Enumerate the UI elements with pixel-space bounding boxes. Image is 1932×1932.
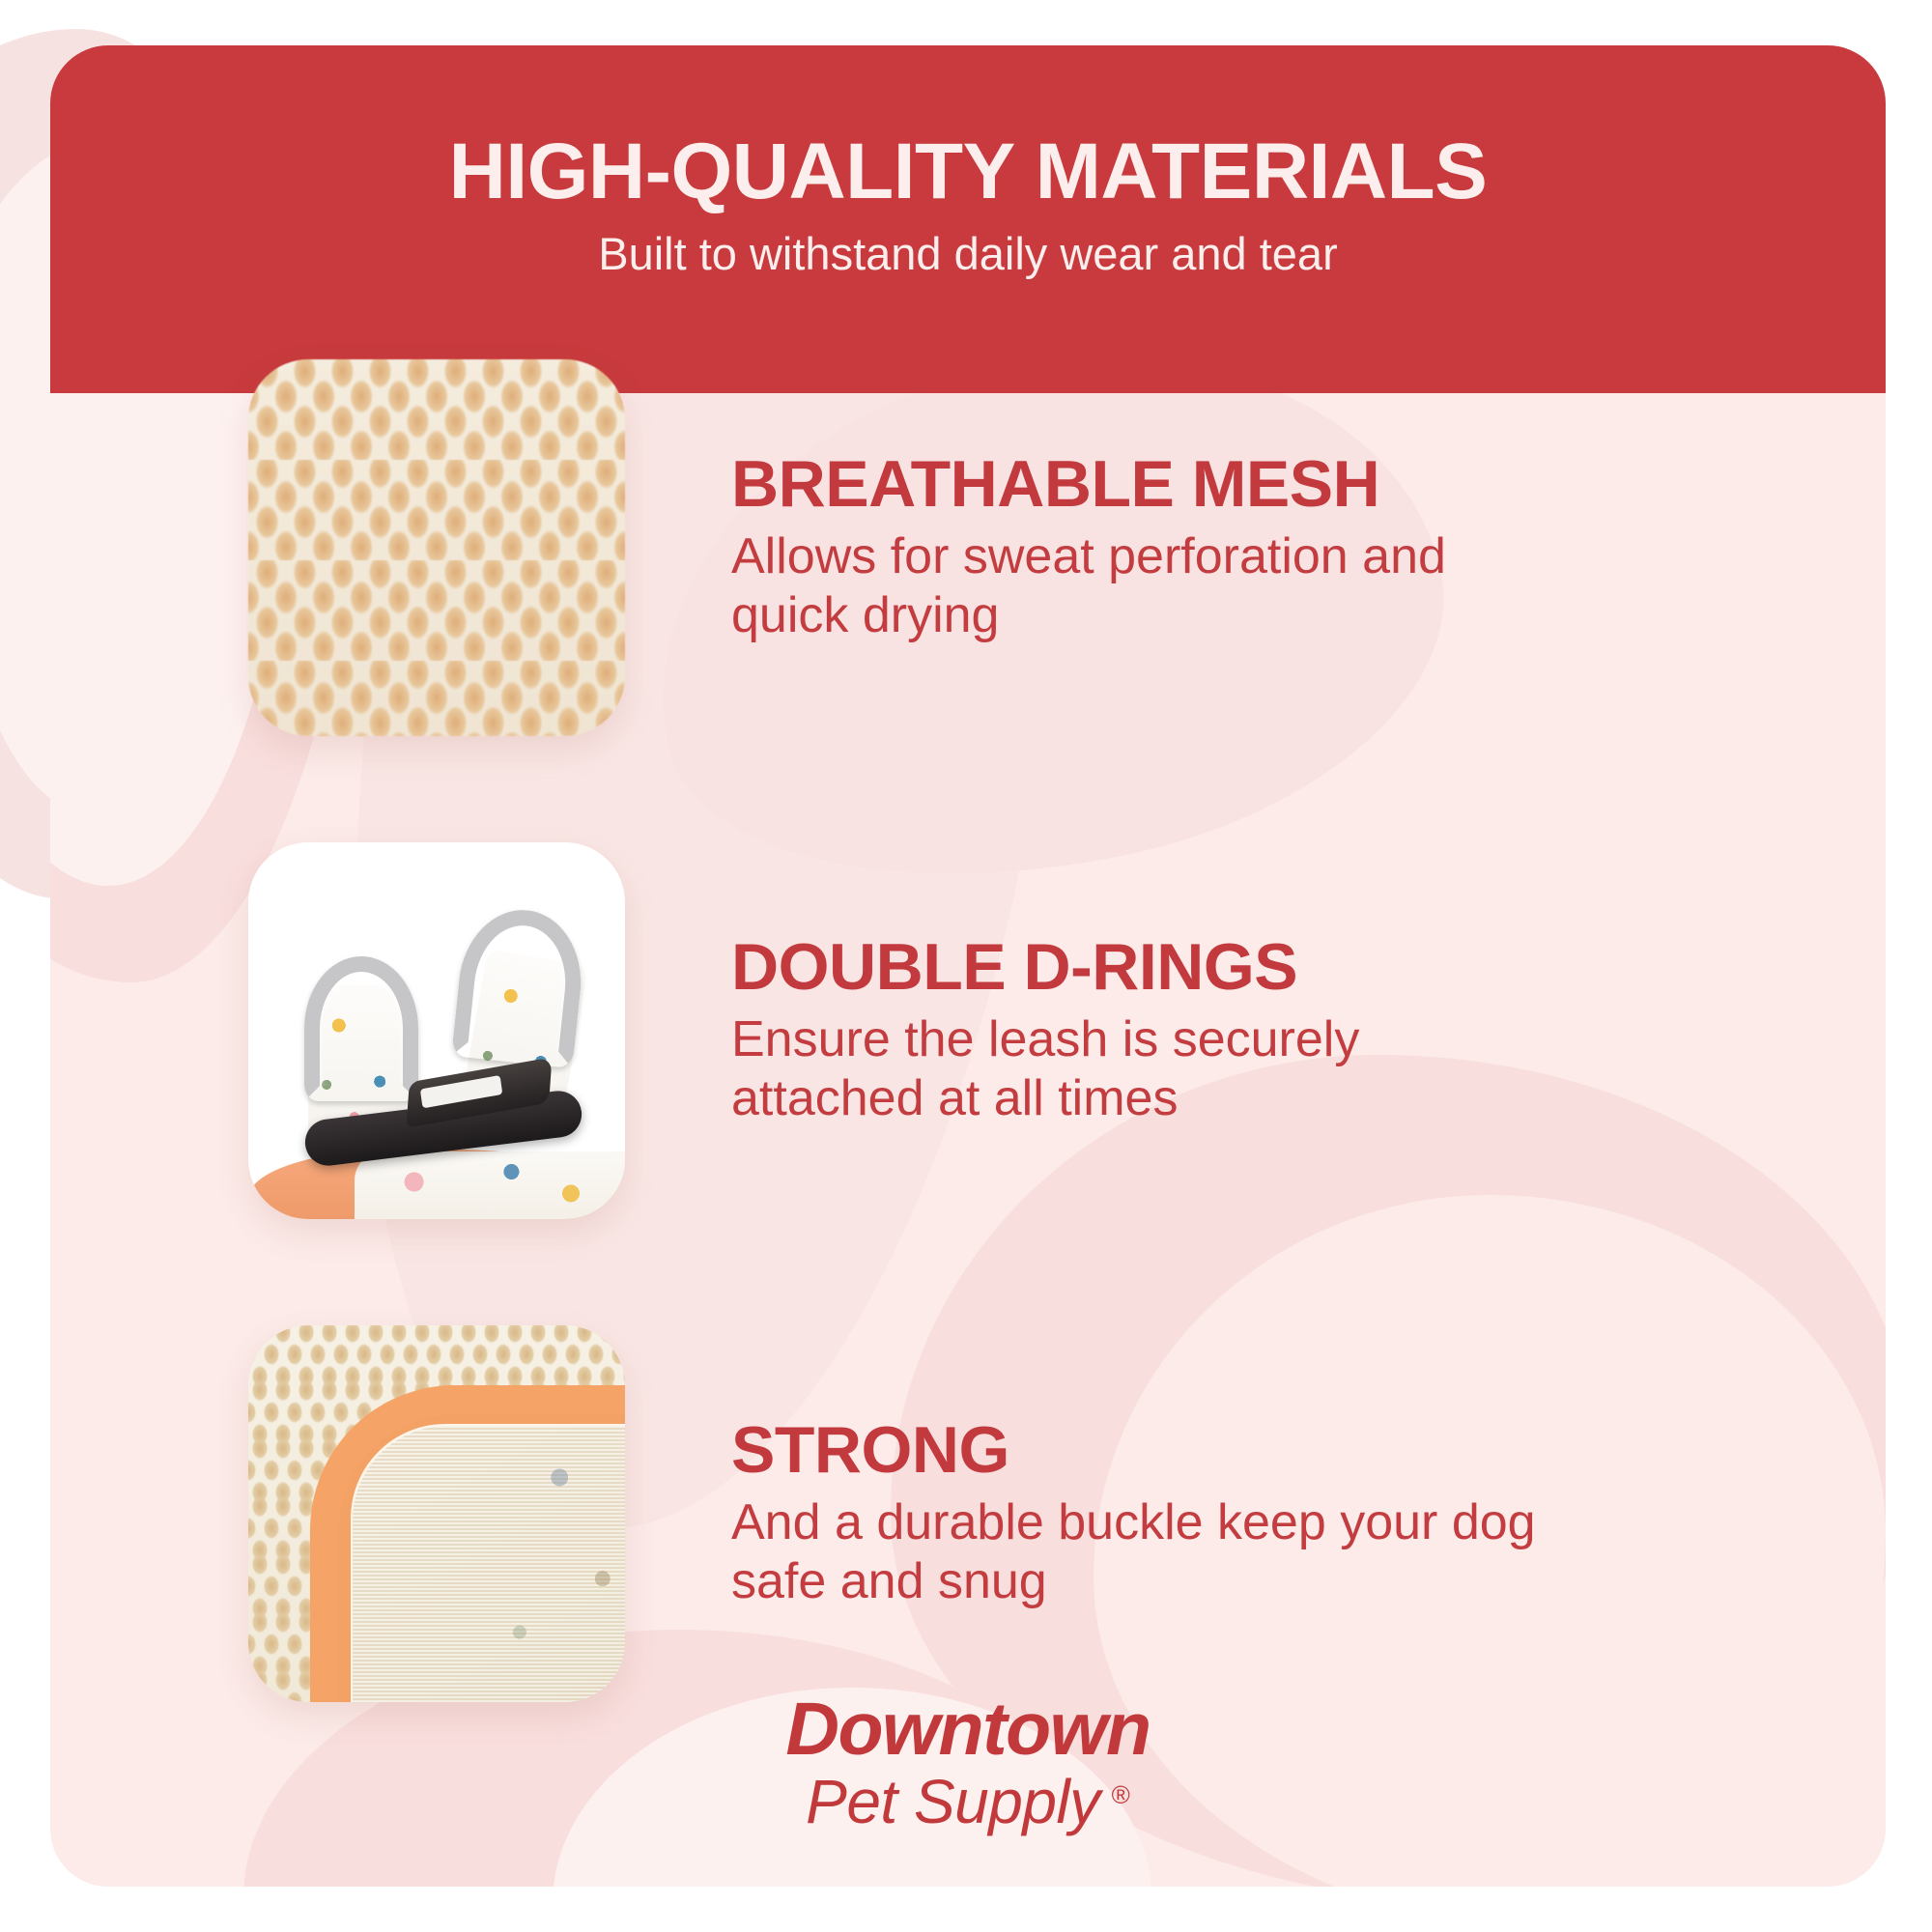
d-ring-left-icon (304, 956, 418, 1101)
brand-logo-line2-row: Pet Supply ® (806, 1771, 1130, 1833)
double-d-rings-image (248, 842, 625, 1219)
content-card: HIGH-QUALITY MATERIALS Built to withstan… (50, 45, 1886, 1887)
feature-row-double-d-rings: DOUBLE D-RINGS Ensure the leash is secur… (248, 842, 1755, 1219)
feature-title-3: STRONG (731, 1417, 1543, 1484)
orange-trim-binding (310, 1385, 625, 1702)
feature-title-1: BREATHABLE MESH (731, 451, 1543, 518)
page-subtitle: Built to withstand daily wear and tear (598, 227, 1337, 280)
feature-description-1: Allows for sweat perforation and quick d… (731, 527, 1543, 644)
brand-logo: Downtown Pet Supply ® (50, 1692, 1886, 1833)
d-ring-right-icon (451, 904, 588, 1068)
feature-row-breathable-mesh: BREATHABLE MESH Allows for sweat perfora… (248, 359, 1755, 736)
floral-fabric-bottom (355, 1151, 625, 1219)
feature-description-2: Ensure the leash is securely attached at… (731, 1010, 1543, 1127)
header-band: HIGH-QUALITY MATERIALS Built to withstan… (50, 45, 1886, 393)
infographic-page: HIGH-QUALITY MATERIALS Built to withstan… (0, 0, 1932, 1932)
durable-buckle-trim-image (248, 1325, 625, 1702)
feature-row-strong: STRONG And a durable buckle keep your do… (248, 1325, 1755, 1702)
feature-description-3: And a durable buckle keep your dog safe … (731, 1493, 1543, 1610)
page-title: HIGH-QUALITY MATERIALS (449, 132, 1488, 212)
registered-trademark-icon: ® (1112, 1780, 1130, 1810)
brand-logo-line2: Pet Supply (806, 1771, 1100, 1833)
feature-text-2: DOUBLE D-RINGS Ensure the leash is secur… (731, 934, 1543, 1127)
feature-title-2: DOUBLE D-RINGS (731, 934, 1543, 1001)
brand-logo-line1: Downtown (785, 1692, 1150, 1767)
breathable-mesh-image (248, 359, 625, 736)
feature-text-1: BREATHABLE MESH Allows for sweat perfora… (731, 451, 1543, 644)
feature-text-3: STRONG And a durable buckle keep your do… (731, 1417, 1543, 1610)
